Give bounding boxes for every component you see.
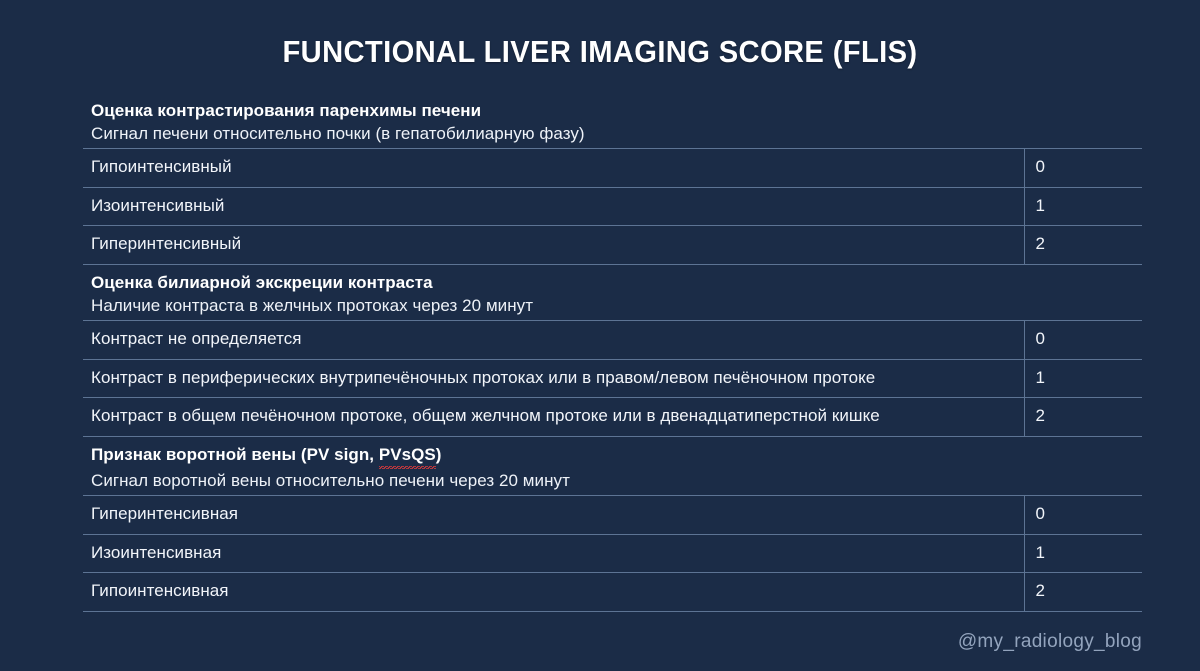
table-row[interactable]: Гиперинтенсивная 0 — [83, 496, 1142, 535]
row-score: 1 — [1024, 534, 1142, 573]
row-label: Изоинтенсивный — [83, 187, 1024, 226]
row-label: Гиперинтенсивный — [83, 226, 1024, 265]
section-title-suffix: ) — [436, 445, 442, 464]
row-score: 2 — [1024, 398, 1142, 437]
section-title-prefix: Признак воротной вены (PV sign, — [91, 445, 379, 464]
row-score: 0 — [1024, 149, 1142, 188]
row-label: Контраст в общем печёночном протоке, общ… — [83, 398, 1024, 437]
row-score: 2 — [1024, 226, 1142, 265]
row-label: Изоинтенсивная — [83, 534, 1024, 573]
row-label: Контраст не определяется — [83, 321, 1024, 360]
table-row[interactable]: Изоинтенсивная 1 — [83, 534, 1142, 573]
page-title: FUNCTIONAL LIVER IMAGING SCORE (FLIS) — [36, 34, 1164, 70]
table-row[interactable]: Гипоинтенсивный 0 — [83, 149, 1142, 188]
section-header-cell: Признак воротной вены (PV sign, PVsQS) С… — [83, 437, 1142, 496]
section-subtitle: Сигнал печени относительно почки (в гепа… — [91, 122, 1134, 145]
section-header-row: Оценка контрастирования паренхимы печени… — [83, 94, 1142, 149]
section-subtitle: Наличие контраста в желчных протоках чер… — [91, 294, 1134, 317]
section-title: Оценка контрастирования паренхимы печени — [91, 100, 1134, 122]
misspelled-term: PVsQS — [379, 444, 436, 469]
row-score: 1 — [1024, 359, 1142, 398]
section-header-row: Признак воротной вены (PV sign, PVsQS) С… — [83, 437, 1142, 496]
row-score: 2 — [1024, 573, 1142, 612]
table-row[interactable]: Контраст в периферических внутрипечёночн… — [83, 359, 1142, 398]
section-title: Признак воротной вены (PV sign, PVsQS) — [91, 444, 1134, 469]
table-row[interactable]: Гиперинтенсивный 2 — [83, 226, 1142, 265]
row-label: Гипоинтенсивный — [83, 149, 1024, 188]
table-row[interactable]: Контраст не определяется 0 — [83, 321, 1142, 360]
row-score: 1 — [1024, 187, 1142, 226]
watermark: @my_radiology_blog — [958, 631, 1142, 653]
table-row[interactable]: Изоинтенсивный 1 — [83, 187, 1142, 226]
row-label: Гипоинтенсивная — [83, 573, 1024, 612]
table-row[interactable]: Контраст в общем печёночном протоке, общ… — [83, 398, 1142, 437]
flis-score-table: Оценка контрастирования паренхимы печени… — [83, 94, 1142, 612]
row-score: 0 — [1024, 496, 1142, 535]
section-subtitle: Сигнал воротной вены относительно печени… — [91, 469, 1134, 492]
row-score: 0 — [1024, 321, 1142, 360]
table-row[interactable]: Гипоинтенсивная 2 — [83, 573, 1142, 612]
slide-root: FUNCTIONAL LIVER IMAGING SCORE (FLIS) Оц… — [0, 0, 1200, 671]
row-label: Гиперинтенсивная — [83, 496, 1024, 535]
score-table-body: Оценка контрастирования паренхимы печени… — [83, 94, 1142, 612]
section-header-cell: Оценка контрастирования паренхимы печени… — [83, 94, 1142, 149]
section-title: Оценка билиарной экскреции контраста — [91, 272, 1134, 294]
flis-score-table-wrapper: Оценка контрастирования паренхимы печени… — [83, 94, 1142, 612]
row-label: Контраст в периферических внутрипечёночн… — [83, 359, 1024, 398]
section-header-row: Оценка билиарной экскреции контраста Нал… — [83, 265, 1142, 321]
section-header-cell: Оценка билиарной экскреции контраста Нал… — [83, 265, 1142, 321]
